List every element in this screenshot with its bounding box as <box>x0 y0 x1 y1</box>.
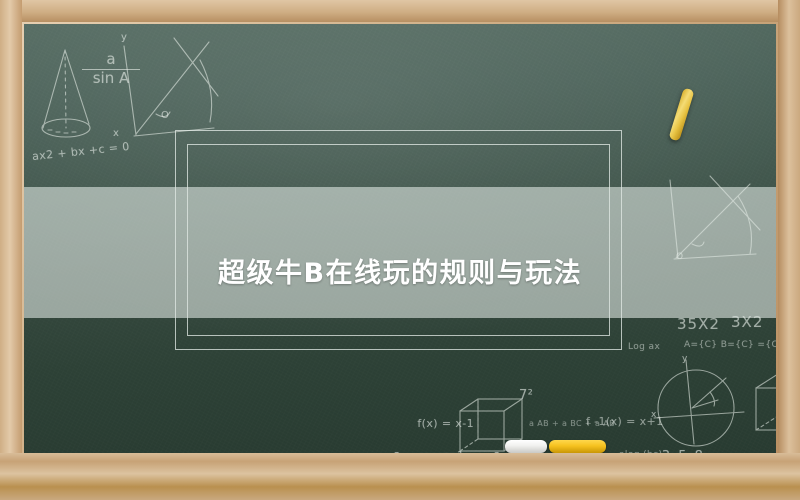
set-notation-label: A={C} B={C} ={C} <box>684 340 776 350</box>
white-chalk-stick <box>505 440 547 453</box>
axis-y-label-topleft: y <box>121 32 127 44</box>
frame-left-edge <box>0 0 22 500</box>
axis-y-label-right: y <box>682 354 688 364</box>
cube-drawing-right <box>754 372 776 444</box>
angle-o-label-topleft: O <box>161 110 169 122</box>
frame-top-edge <box>0 0 800 22</box>
yellow-chalk-stick <box>549 440 606 453</box>
chalkboard-screenshot: a sin A ax2 + bx +c = 0 y x O O <box>0 0 800 500</box>
floating-yellow-chalk-stick <box>668 88 694 142</box>
frame-right-edge <box>778 0 800 500</box>
chalk-ledge <box>0 453 800 500</box>
addition-column-sum: 3 5 8 2 7 9 6 3 7 <box>625 430 705 453</box>
power-seven-label: 7² <box>519 389 533 404</box>
page-title: 超级牛B在线玩的规则与玩法 <box>24 205 776 336</box>
log-ax-label: Log ax <box>628 342 660 352</box>
axis-x-label-topleft: x <box>113 128 119 140</box>
inverse-function-label: f -1(x) = x+1 <box>586 416 664 429</box>
